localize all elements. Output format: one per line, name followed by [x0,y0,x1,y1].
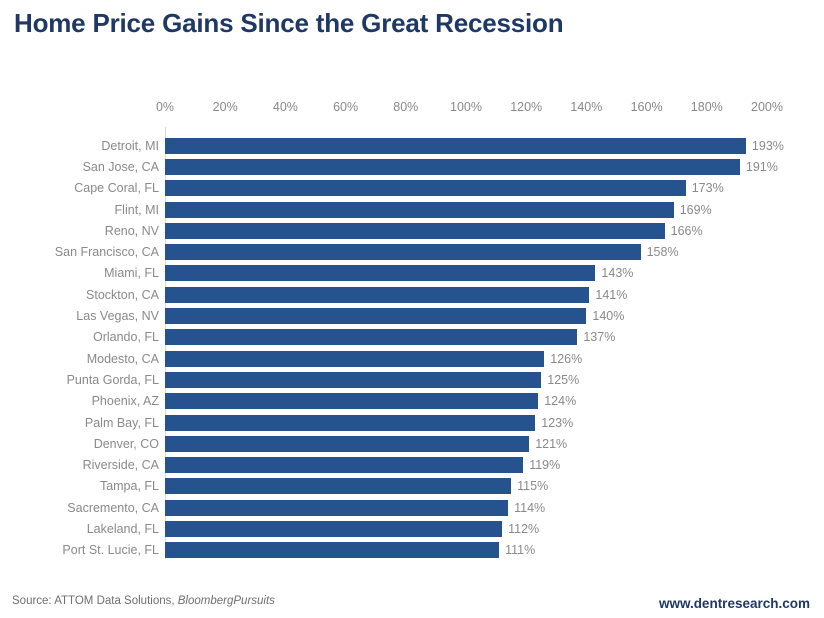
category-label: Sacremento, CA [67,501,159,515]
x-axis-tick-60: 60% [333,100,358,114]
bar[interactable] [165,223,665,239]
bar-value-label: 121% [535,437,567,451]
category-label: San Jose, CA [83,160,159,174]
bar-row: Reno, NV166% [0,220,824,241]
bar-row: San Francisco, CA158% [0,242,824,263]
bar[interactable] [165,329,577,345]
x-axis-tick-80: 80% [393,100,418,114]
bar[interactable] [165,265,595,281]
x-axis-tick-100: 100% [450,100,482,114]
bar-value-label: 112% [508,522,539,536]
bar[interactable] [165,436,529,452]
x-axis-tick-200: 200% [751,100,783,114]
source-note: Source: ATTOM Data Solutions, BloombergP… [12,595,275,607]
bar-row: Phoenix, AZ124% [0,391,824,412]
bar[interactable] [165,521,502,537]
x-axis-tick-160: 160% [631,100,663,114]
bar[interactable] [165,457,523,473]
category-label: Port St. Lucie, FL [62,543,159,557]
category-label: Reno, NV [105,224,159,238]
bar-value-label: 114% [514,501,545,515]
page-title: Home Price Gains Since the Great Recessi… [14,8,563,39]
bar-value-label: 126% [550,352,582,366]
category-label: Palm Bay, FL [85,416,159,430]
website-link[interactable]: www.dentresearch.com [659,596,810,611]
bar-row: Detroit, MI193% [0,135,824,156]
x-axis-tick-20: 20% [213,100,238,114]
plot-area: Detroit, MI193%San Jose, CA191%Cape Cora… [0,127,824,567]
bar-value-label: 123% [541,416,573,430]
bar[interactable] [165,159,740,175]
category-label: Punta Gorda, FL [67,373,159,387]
x-axis-tick-120: 120% [510,100,542,114]
bar-row: Riverside, CA119% [0,455,824,476]
bar[interactable] [165,542,499,558]
bar-row: Denver, CO121% [0,433,824,454]
bar-row: Orlando, FL137% [0,327,824,348]
bar[interactable] [165,415,535,431]
category-label: Flint, MI [115,203,159,217]
x-axis-tick-140: 140% [570,100,602,114]
bar-row: Cape Coral, FL173% [0,178,824,199]
x-axis-tick-labels: 0%20%40%60%80%100%120%140%160%180%200% [0,100,824,122]
bar-row: Port St. Lucie, FL111% [0,540,824,561]
category-label: Las Vegas, NV [76,309,159,323]
bar-value-label: 140% [592,309,624,323]
category-label: Orlando, FL [93,330,159,344]
bar-value-label: 166% [671,224,703,238]
bar[interactable] [165,393,538,409]
bar-row: Stockton, CA141% [0,284,824,305]
category-label: Tampa, FL [100,479,159,493]
category-label: Riverside, CA [83,458,159,472]
bar-row: Palm Bay, FL123% [0,412,824,433]
x-axis-tick-180: 180% [691,100,723,114]
category-label: Miami, FL [104,266,159,280]
category-label: Phoenix, AZ [92,394,159,408]
bar[interactable] [165,372,541,388]
bar-row: Las Vegas, NV140% [0,305,824,326]
bar[interactable] [165,478,511,494]
x-axis-tick-40: 40% [273,100,298,114]
bar-row: Tampa, FL115% [0,476,824,497]
bar-row: Flint, MI169% [0,199,824,220]
source-prefix: Source: ATTOM Data Solutions, [12,595,178,607]
source-publication: BloombergPursuits [178,595,275,607]
bar-value-label: 124% [544,394,576,408]
bar-row: Sacremento, CA114% [0,497,824,518]
category-label: Lakeland, FL [87,522,159,536]
bar-value-label: 191% [746,160,778,174]
bar[interactable] [165,351,544,367]
bar-value-label: 143% [601,266,633,280]
category-label: Denver, CO [94,437,159,451]
category-label: Stockton, CA [86,288,159,302]
bar-value-label: 158% [647,245,679,259]
bar[interactable] [165,287,589,303]
category-label: Modesto, CA [87,352,159,366]
bar[interactable] [165,138,746,154]
category-label: San Francisco, CA [55,245,159,259]
bar[interactable] [165,308,586,324]
bar-value-label: 137% [583,330,615,344]
bar-row: Modesto, CA126% [0,348,824,369]
bar-value-label: 111% [505,543,535,557]
x-axis-tick-0: 0% [156,100,174,114]
bar-value-label: 193% [752,139,784,153]
bar[interactable] [165,202,674,218]
bar-row: Miami, FL143% [0,263,824,284]
bar[interactable] [165,244,641,260]
bar-value-label: 141% [595,288,627,302]
bar-chart: 0%20%40%60%80%100%120%140%160%180%200% D… [0,100,824,575]
bar[interactable] [165,500,508,516]
category-label: Cape Coral, FL [74,181,159,195]
bar-row: San Jose, CA191% [0,156,824,177]
bar[interactable] [165,180,686,196]
bar-row: Lakeland, FL112% [0,518,824,539]
bar-value-label: 119% [529,458,560,472]
bar-value-label: 125% [547,373,579,387]
bar-value-label: 173% [692,181,724,195]
bar-value-label: 115% [517,479,548,493]
category-label: Detroit, MI [101,139,159,153]
bar-value-label: 169% [680,203,712,217]
bar-row: Punta Gorda, FL125% [0,369,824,390]
